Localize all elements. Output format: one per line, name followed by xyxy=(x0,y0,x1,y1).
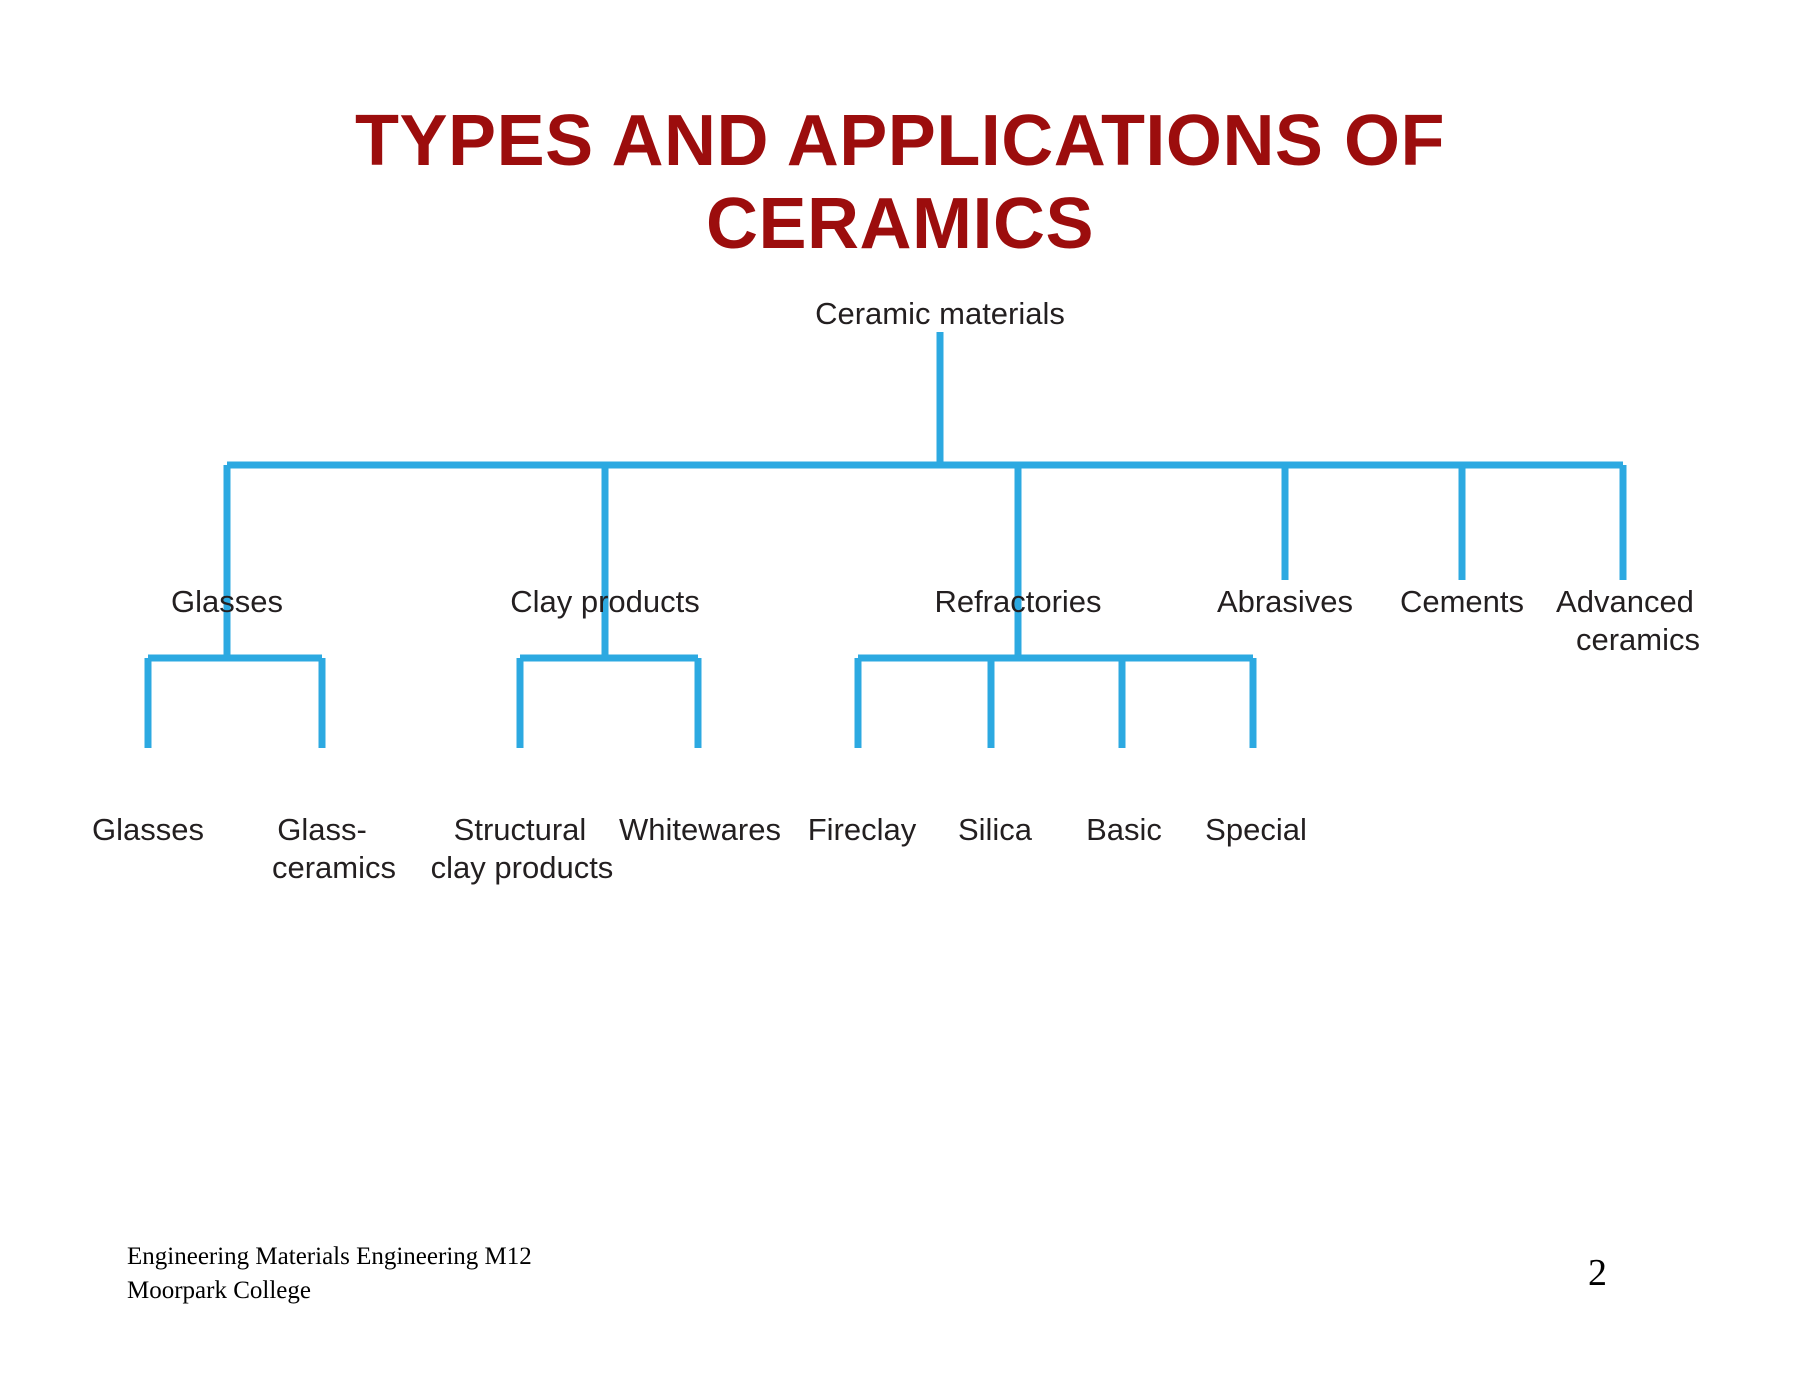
tree-node-labels: Ceramic materials Glasses Clay products … xyxy=(92,300,1700,885)
page-title: TYPES AND APPLICATIONS OF CERAMICS xyxy=(130,100,1670,266)
page-title-line-1: TYPES AND APPLICATIONS OF xyxy=(130,100,1670,183)
ceramics-classification-diagram: Ceramic materials Glasses Clay products … xyxy=(0,300,1800,940)
node-basic: Basic xyxy=(1086,812,1162,847)
node-special: Special xyxy=(1205,812,1307,847)
footer-course-line: Engineering Materials Engineering M12 xyxy=(127,1240,532,1274)
node-glasses-level3: Glasses xyxy=(92,812,204,847)
node-silica: Silica xyxy=(958,812,1033,847)
footer-institution-line: Moorpark College xyxy=(127,1274,532,1308)
node-ceramic-materials: Ceramic materials xyxy=(815,300,1065,331)
node-refractories: Refractories xyxy=(934,584,1101,619)
node-glass-ceramics-line1: Glass- xyxy=(277,812,367,847)
node-advanced-ceramics-line2: ceramics xyxy=(1576,622,1700,657)
page-number: 2 xyxy=(1588,1251,1607,1295)
tree-connectors xyxy=(148,332,1623,748)
node-glass-ceramics-line2: ceramics xyxy=(272,850,396,885)
node-whitewares: Whitewares xyxy=(619,812,781,847)
node-glasses-level2: Glasses xyxy=(171,584,283,619)
slide-footer: Engineering Materials Engineering M12 Mo… xyxy=(127,1240,532,1308)
node-structural-clay-products-line1: Structural xyxy=(454,812,587,847)
slide-canvas: TYPES AND APPLICATIONS OF CERAMICS xyxy=(0,0,1800,1391)
node-clay-products: Clay products xyxy=(510,584,700,619)
node-advanced-ceramics-line1: Advanced xyxy=(1556,584,1694,619)
page-title-line-2: CERAMICS xyxy=(130,183,1670,266)
node-structural-clay-products-line2: clay products xyxy=(431,850,614,885)
node-fireclay: Fireclay xyxy=(808,812,917,847)
node-abrasives: Abrasives xyxy=(1217,584,1353,619)
node-cements: Cements xyxy=(1400,584,1524,619)
